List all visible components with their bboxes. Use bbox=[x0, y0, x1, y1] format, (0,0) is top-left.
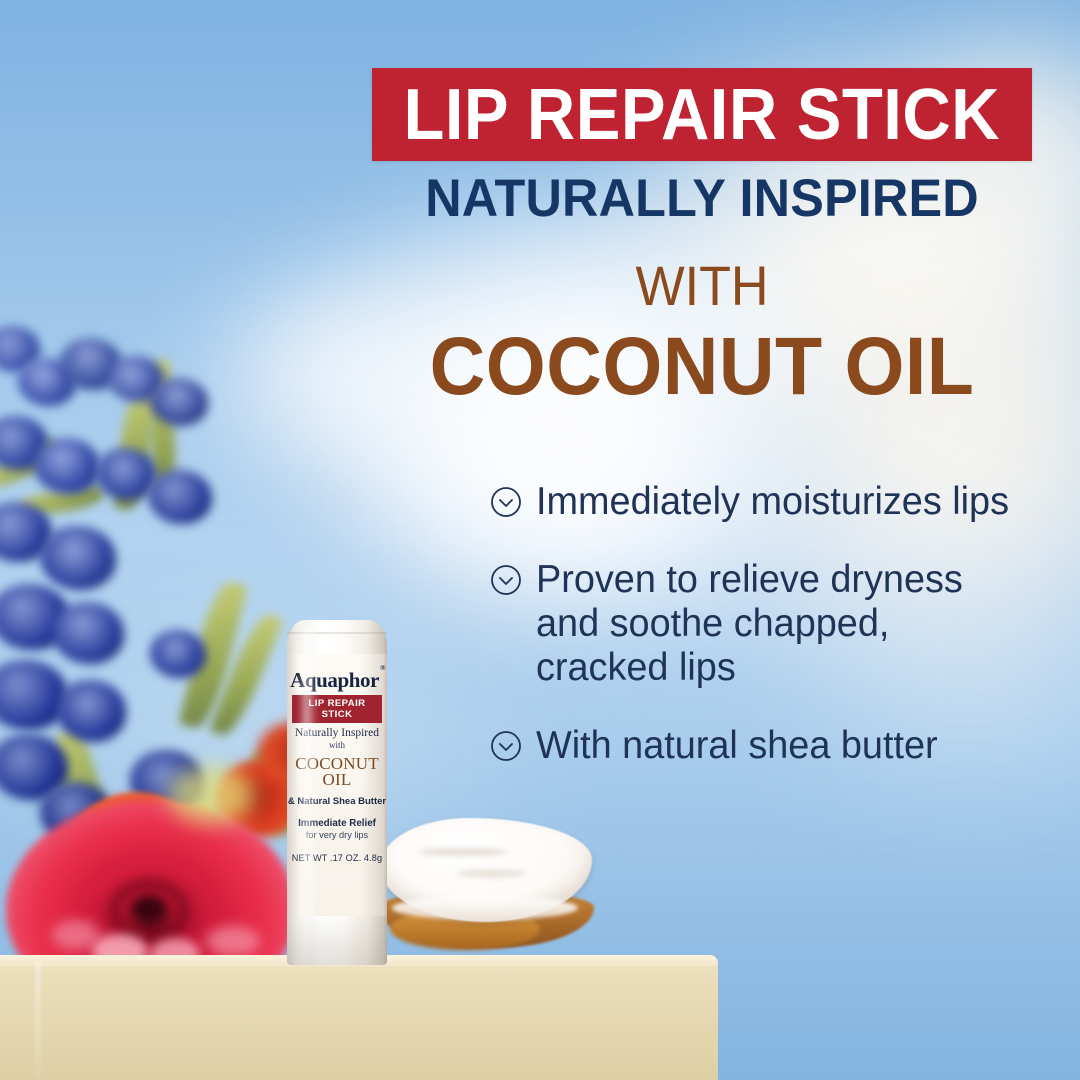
label-shea-butter: & Natural Shea Butter bbox=[287, 796, 387, 807]
label-naturally-inspired: Naturally Inspired bbox=[287, 727, 387, 739]
marketing-image: Aquaphor® LIP REPAIR STICK Naturally Ins… bbox=[0, 0, 1080, 1080]
label-net-weight: NET WT .17 OZ. 4.8g bbox=[287, 853, 387, 863]
product-pedestal bbox=[0, 960, 718, 1080]
registered-trademark-icon: ® bbox=[380, 664, 385, 672]
headline-banner-text: LIP REPAIR STICK bbox=[404, 79, 1001, 151]
label-with: with bbox=[287, 740, 387, 750]
tube-gloss-highlight bbox=[303, 628, 316, 958]
tube-cap-seam bbox=[287, 632, 387, 634]
label-ingredient-line2: OIL bbox=[287, 772, 387, 789]
coconut-half bbox=[372, 812, 600, 952]
benefit-text: Proven to relieve dryness and soothe cha… bbox=[536, 558, 992, 690]
benefit-text: Immediately moisturizes lips bbox=[536, 480, 1009, 524]
check-circle-icon bbox=[490, 730, 522, 762]
label-brand: Aquaphor® bbox=[287, 670, 387, 691]
headline-banner: LIP REPAIR STICK bbox=[372, 68, 1032, 161]
benefit-text: With natural shea butter bbox=[536, 724, 938, 768]
subhead-coconut-oil: COCONUT OIL bbox=[392, 326, 1012, 408]
benefits-list: Immediately moisturizes lips Proven to r… bbox=[490, 480, 1050, 768]
label-ingredient: COCONUT OIL bbox=[287, 756, 387, 789]
product-label: Aquaphor® LIP REPAIR STICK Naturally Ins… bbox=[287, 654, 387, 916]
list-item: With natural shea butter bbox=[490, 724, 1050, 768]
list-item: Proven to relieve dryness and soothe cha… bbox=[490, 558, 1050, 690]
subhead-with: WITH bbox=[395, 258, 1009, 314]
tube-bottom-shading bbox=[287, 913, 387, 965]
subhead-naturally-inspired: NATURALLY INSPIRED bbox=[389, 172, 1016, 226]
check-circle-icon bbox=[490, 486, 522, 518]
pedestal-edge-highlight bbox=[36, 962, 40, 1080]
lip-balm-tube[interactable]: Aquaphor® LIP REPAIR STICK Naturally Ins… bbox=[287, 620, 387, 965]
list-item: Immediately moisturizes lips bbox=[490, 480, 1050, 524]
check-circle-icon bbox=[490, 564, 522, 596]
label-relief-sub: for very dry lips bbox=[287, 830, 387, 840]
label-relief: Immediate Relief bbox=[287, 818, 387, 829]
